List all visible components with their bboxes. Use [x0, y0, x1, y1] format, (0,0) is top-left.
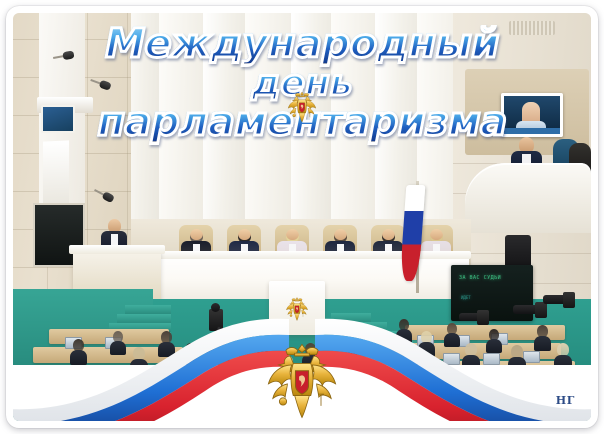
title-line-1: Международный	[13, 25, 591, 63]
photo-frame: ЗА ВАС СУДЬИ ИДЕТ	[6, 6, 598, 428]
chamber-photograph: ЗА ВАС СУДЬИ ИДЕТ	[13, 13, 591, 421]
title-coat-of-arms-icon	[287, 91, 317, 123]
russian-coat-of-arms-icon	[265, 343, 339, 419]
watermark: НГ	[556, 394, 575, 407]
ribbon-right	[315, 319, 591, 421]
ribbon-left	[13, 319, 289, 421]
greeting-card: ЗА ВАС СУДЬИ ИДЕТ	[0, 0, 604, 434]
